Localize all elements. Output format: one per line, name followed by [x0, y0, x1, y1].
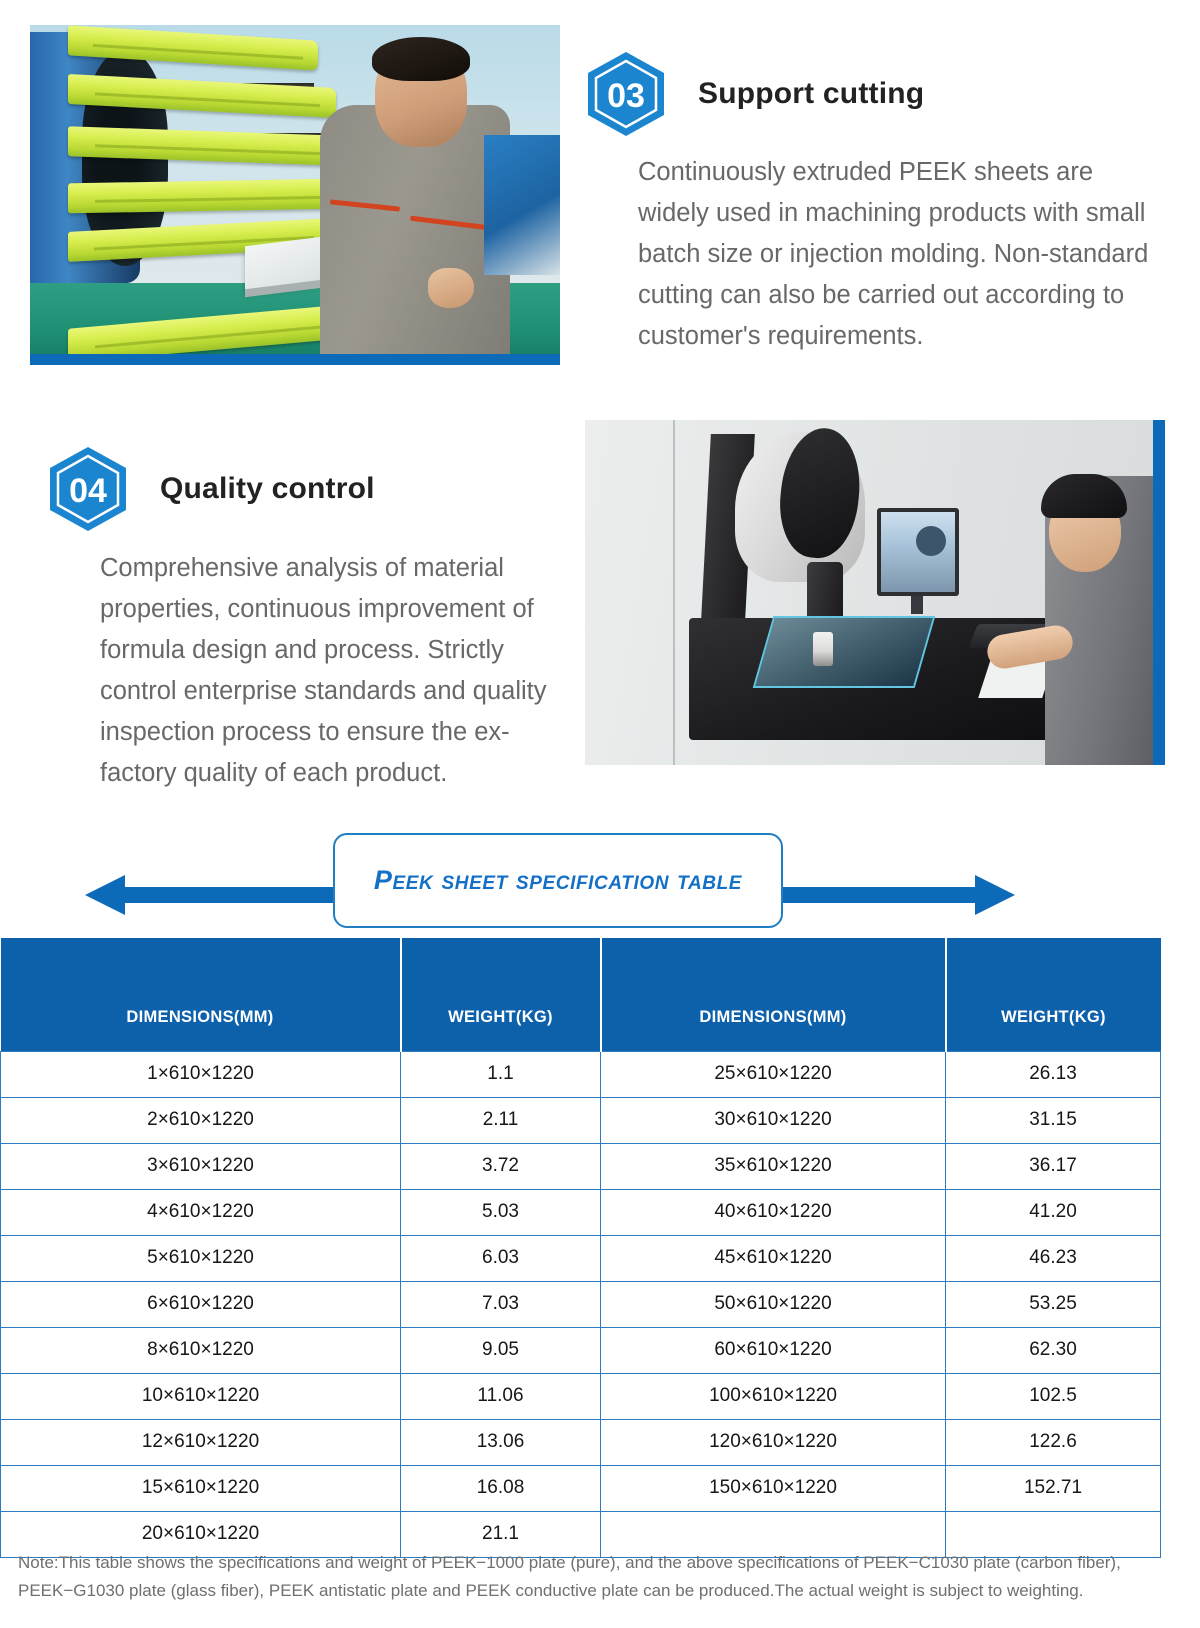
table-row: 6×610×12207.0350×610×122053.25 — [1, 1281, 1161, 1327]
table-cell: 40×610×1220 — [601, 1189, 946, 1235]
column-header-weight-1: WEIGHT(KG) — [401, 938, 601, 1051]
table-cell: 152.71 — [946, 1465, 1161, 1511]
table-row: 8×610×12209.0560×610×122062.30 — [1, 1327, 1161, 1373]
table-cell: 10×610×1220 — [1, 1373, 401, 1419]
table-cell: 120×610×1220 — [601, 1419, 946, 1465]
step-number-badge-04: 04 — [42, 443, 134, 535]
step-number-text-04: 04 — [69, 472, 107, 510]
section-03-header: 03 Support cutting — [580, 48, 924, 140]
table-cell: 6×610×1220 — [1, 1281, 401, 1327]
table-cell: 62.30 — [946, 1327, 1161, 1373]
table-cell: 5.03 — [401, 1189, 601, 1235]
section-04-body: Comprehensive analysis of material prope… — [100, 548, 580, 794]
table-cell: 150×610×1220 — [601, 1465, 946, 1511]
table-cell: 11.06 — [401, 1373, 601, 1419]
column-header-dimensions-1: DIMENSIONS(MM) — [1, 938, 401, 1051]
table-cell: 3.72 — [401, 1143, 601, 1189]
table-row: 4×610×12205.0340×610×122041.20 — [1, 1189, 1161, 1235]
table-row: 15×610×122016.08150×610×1220152.71 — [1, 1465, 1161, 1511]
table-row: 5×610×12206.0345×610×122046.23 — [1, 1235, 1161, 1281]
spec-banner-title: Peek sheet specification table — [333, 833, 783, 928]
section-03-title: Support cutting — [698, 77, 924, 111]
table-cell: 35×610×1220 — [601, 1143, 946, 1189]
table-cell: 25×610×1220 — [601, 1051, 946, 1097]
table-cell: 26.13 — [946, 1051, 1161, 1097]
table-cell: 8×610×1220 — [1, 1327, 401, 1373]
table-cell: 1×610×1220 — [1, 1051, 401, 1097]
table-cell: 13.06 — [401, 1419, 601, 1465]
table-cell: 2×610×1220 — [1, 1097, 401, 1143]
table-header-row: DIMENSIONS(MM) WEIGHT(KG) DIMENSIONS(MM)… — [1, 938, 1161, 1051]
specification-table: DIMENSIONS(MM) WEIGHT(KG) DIMENSIONS(MM)… — [0, 938, 1161, 1558]
table-cell: 7.03 — [401, 1281, 601, 1327]
section-04-title: Quality control — [160, 472, 375, 506]
table-row: 2×610×12202.1130×610×122031.15 — [1, 1097, 1161, 1143]
table-row: 12×610×122013.06120×610×1220122.6 — [1, 1419, 1161, 1465]
table-cell: 41.20 — [946, 1189, 1161, 1235]
table-cell: 46.23 — [946, 1235, 1161, 1281]
section-03-body: Continuously extruded PEEK sheets are wi… — [638, 152, 1150, 357]
table-cell: 16.08 — [401, 1465, 601, 1511]
table-cell: 9.05 — [401, 1327, 601, 1373]
photo-quality-control — [585, 420, 1165, 765]
table-cell: 15×610×1220 — [1, 1465, 401, 1511]
table-note: Note:This table shows the specifications… — [18, 1549, 1188, 1605]
table-cell: 122.6 — [946, 1419, 1161, 1465]
table-cell: 50×610×1220 — [601, 1281, 946, 1327]
table-cell: 1.1 — [401, 1051, 601, 1097]
table-cell: 2.11 — [401, 1097, 601, 1143]
table-cell: 5×610×1220 — [1, 1235, 401, 1281]
table-cell: 60×610×1220 — [601, 1327, 946, 1373]
photo-accent-bar — [1153, 420, 1165, 765]
table-cell: 102.5 — [946, 1373, 1161, 1419]
photo-support-cutting — [30, 25, 560, 365]
column-header-dimensions-2: DIMENSIONS(MM) — [601, 938, 946, 1051]
table-cell: 3×610×1220 — [1, 1143, 401, 1189]
step-number-badge-03: 03 — [580, 48, 672, 140]
column-header-weight-2: WEIGHT(KG) — [946, 938, 1161, 1051]
table-cell: 6.03 — [401, 1235, 601, 1281]
measuring-monitor — [877, 508, 959, 596]
product-spec-page: 03 Support cutting Continuously extruded… — [0, 0, 1200, 1628]
table-cell: 45×610×1220 — [601, 1235, 946, 1281]
step-number-text-03: 03 — [607, 77, 645, 115]
table-row: 3×610×12203.7235×610×122036.17 — [1, 1143, 1161, 1189]
section-04-header: 04 Quality control — [42, 443, 375, 535]
photo-accent-bar — [30, 354, 560, 365]
table-row: 1×610×12201.125×610×122026.13 — [1, 1051, 1161, 1097]
table-cell: 53.25 — [946, 1281, 1161, 1327]
table-cell: 4×610×1220 — [1, 1189, 401, 1235]
table-row: 10×610×122011.06100×610×1220102.5 — [1, 1373, 1161, 1419]
table-cell: 36.17 — [946, 1143, 1161, 1189]
table-cell: 12×610×1220 — [1, 1419, 401, 1465]
table-cell: 30×610×1220 — [601, 1097, 946, 1143]
table-cell: 31.15 — [946, 1097, 1161, 1143]
table-cell: 100×610×1220 — [601, 1373, 946, 1419]
